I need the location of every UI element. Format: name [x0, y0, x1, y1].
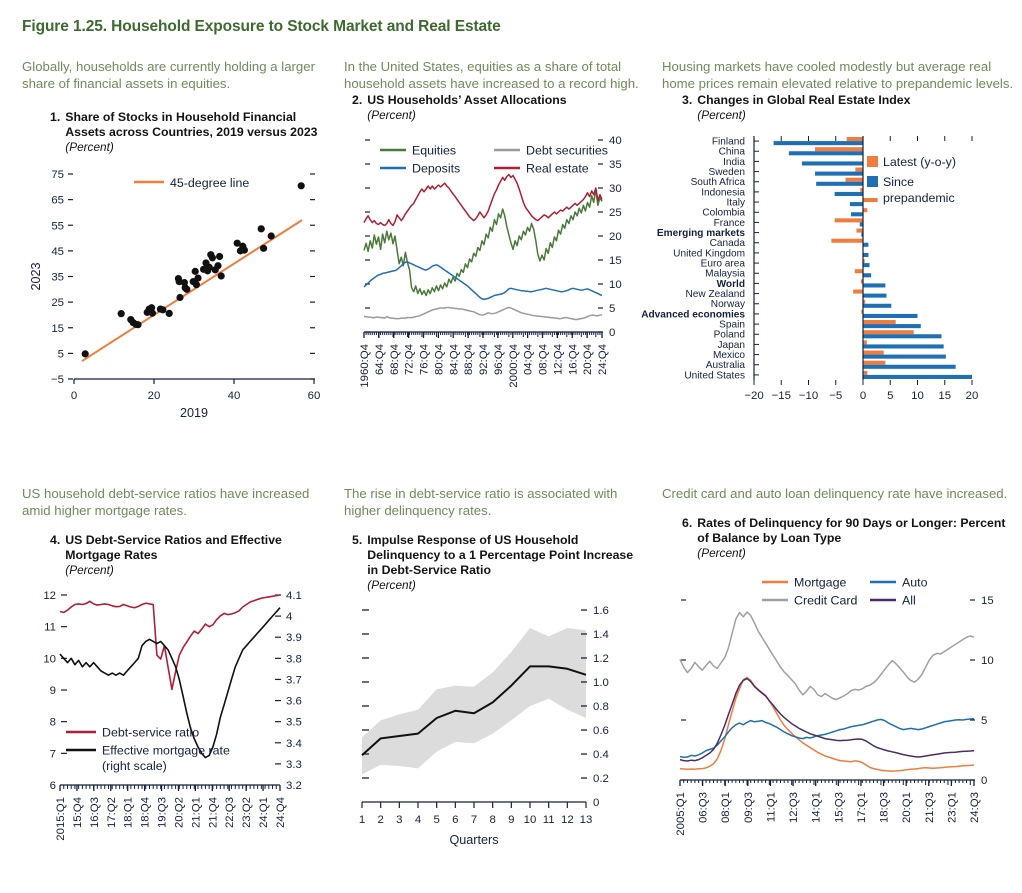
- panel-1-title: Share of Stocks in Household Financial A…: [65, 110, 332, 140]
- svg-text:23:Q1: 23:Q1: [946, 792, 958, 823]
- svg-text:76:Q4: 76:Q4: [419, 344, 431, 375]
- svg-text:12: 12: [561, 814, 574, 826]
- panel-6-column: Credit card and auto loan delinquency ra…: [662, 485, 1017, 845]
- panel-6-number: 6.: [682, 516, 692, 560]
- svg-text:11:Q1: 11:Q1: [765, 792, 777, 822]
- svg-text:4: 4: [415, 814, 421, 826]
- svg-text:−20: −20: [744, 390, 763, 402]
- svg-text:24:Q3: 24:Q3: [969, 792, 981, 823]
- panel-4-column: US household debt-service ratios have in…: [22, 485, 332, 867]
- svg-text:2023: 2023: [29, 262, 43, 290]
- svg-text:96:Q4: 96:Q4: [493, 344, 505, 375]
- svg-text:0: 0: [981, 775, 987, 787]
- svg-text:65: 65: [51, 195, 64, 207]
- svg-text:6: 6: [50, 780, 56, 792]
- panel-3-units: (Percent): [697, 108, 910, 122]
- panel-4-number: 4.: [50, 533, 60, 577]
- svg-text:Latest (y-o-y): Latest (y-o-y): [883, 155, 956, 169]
- svg-text:5: 5: [609, 303, 615, 315]
- panel-5-heading: 5. Impulse Response of US Household Deli…: [344, 533, 644, 592]
- svg-text:7: 7: [50, 748, 56, 760]
- svg-text:10: 10: [981, 655, 994, 667]
- svg-text:8: 8: [489, 814, 495, 826]
- svg-text:0.6: 0.6: [593, 725, 609, 737]
- svg-text:15:Q3: 15:Q3: [833, 792, 845, 823]
- svg-text:9: 9: [50, 685, 56, 697]
- svg-text:2005:Q1: 2005:Q1: [675, 792, 687, 836]
- svg-text:3.6: 3.6: [286, 696, 302, 708]
- svg-text:14:Q1: 14:Q1: [811, 792, 823, 823]
- panel-2-heading: 2. US Households’ Asset Allocations (Per…: [344, 93, 644, 122]
- svg-text:Debt-service ratio: Debt-service ratio: [102, 726, 199, 740]
- panel-2-units: (Percent): [367, 108, 566, 122]
- svg-text:3.9: 3.9: [286, 632, 302, 644]
- svg-text:21:Q4: 21:Q4: [207, 797, 219, 828]
- svg-text:25: 25: [609, 207, 622, 219]
- svg-text:20:Q4: 20:Q4: [582, 344, 594, 375]
- panel-1-number: 1.: [50, 110, 60, 154]
- svg-text:−10: −10: [799, 390, 818, 402]
- svg-text:16:Q3: 16:Q3: [89, 797, 101, 828]
- panel-2-blurb: In the United States, equities as a shar…: [344, 58, 644, 92]
- panel-5-number: 5.: [352, 533, 362, 592]
- svg-text:1960:Q4: 1960:Q4: [359, 344, 371, 388]
- svg-text:72:Q4: 72:Q4: [404, 344, 416, 375]
- svg-text:40: 40: [228, 390, 241, 402]
- svg-text:04:Q4: 04:Q4: [523, 344, 535, 375]
- svg-text:12:Q3: 12:Q3: [788, 792, 800, 823]
- panel-3-heading: 3. Changes in Global Real Estate Index (…: [662, 93, 1017, 122]
- panel-1-blurb: Globally, households are currently holdi…: [22, 58, 332, 92]
- svg-text:Deposits: Deposits: [412, 162, 460, 176]
- svg-text:12:Q4: 12:Q4: [552, 344, 564, 375]
- svg-text:64:Q4: 64:Q4: [374, 344, 386, 375]
- svg-text:All: All: [902, 594, 916, 608]
- svg-text:9: 9: [508, 814, 514, 826]
- panel-5-units: (Percent): [367, 578, 644, 592]
- panel-5-column: The rise in debt-service ratio is associ…: [344, 485, 644, 867]
- svg-text:10: 10: [609, 279, 622, 291]
- svg-text:6: 6: [452, 814, 458, 826]
- svg-text:2015:Q1: 2015:Q1: [55, 797, 67, 841]
- svg-text:4.1: 4.1: [286, 590, 302, 602]
- svg-text:Equities: Equities: [412, 144, 456, 158]
- svg-text:4: 4: [286, 611, 292, 623]
- svg-text:2019: 2019: [180, 406, 208, 420]
- svg-text:20:Q1: 20:Q1: [901, 792, 913, 823]
- svg-text:15: 15: [938, 390, 951, 402]
- svg-text:35: 35: [51, 272, 64, 284]
- svg-text:3.8: 3.8: [286, 653, 302, 665]
- svg-text:60: 60: [308, 390, 321, 402]
- svg-text:15: 15: [51, 323, 64, 335]
- svg-text:−15: −15: [772, 390, 791, 402]
- svg-text:2: 2: [377, 814, 383, 826]
- svg-text:11: 11: [44, 622, 56, 634]
- svg-text:20: 20: [966, 390, 979, 402]
- svg-text:3.7: 3.7: [286, 674, 302, 686]
- svg-text:17:Q1: 17:Q1: [856, 792, 868, 823]
- svg-text:Auto: Auto: [902, 576, 928, 590]
- svg-text:0: 0: [593, 797, 599, 809]
- svg-text:Mortgage: Mortgage: [794, 576, 846, 590]
- panel-5-title: Impulse Response of US Household Delinqu…: [367, 533, 644, 578]
- svg-text:10: 10: [524, 814, 537, 826]
- svg-text:21:Q3: 21:Q3: [924, 792, 936, 823]
- panel-1-heading: 1. Share of Stocks in Household Financia…: [22, 110, 332, 154]
- svg-text:10: 10: [911, 390, 924, 402]
- panel-4-heading: 4. US Debt-Service Ratios and Effective …: [22, 533, 332, 577]
- svg-text:24:Q4: 24:Q4: [275, 797, 287, 828]
- panel-4-chart: 67891011123.23.33.43.53.63.73.83.944.120…: [22, 577, 332, 867]
- svg-text:0: 0: [609, 327, 615, 339]
- svg-text:06:Q3: 06:Q3: [698, 792, 710, 823]
- svg-text:5: 5: [981, 715, 987, 727]
- svg-text:prepandemic: prepandemic: [883, 191, 955, 205]
- svg-text:Quarters: Quarters: [450, 833, 499, 847]
- svg-text:40: 40: [609, 135, 622, 147]
- panel-3-column: Housing markets have cooled modestly but…: [662, 58, 1017, 422]
- panel-4-blurb: US household debt-service ratios have in…: [22, 485, 332, 519]
- svg-text:08:Q1: 08:Q1: [720, 792, 732, 823]
- svg-text:0.2: 0.2: [593, 773, 609, 785]
- svg-text:10: 10: [43, 653, 56, 665]
- svg-text:3.3: 3.3: [286, 759, 302, 771]
- panel-4-title: US Debt-Service Ratios and Effective Mor…: [65, 533, 332, 563]
- svg-text:24:Q1: 24:Q1: [258, 797, 270, 828]
- svg-text:United States: United States: [684, 370, 745, 381]
- svg-text:−5: −5: [51, 374, 64, 386]
- svg-text:84:Q4: 84:Q4: [448, 344, 460, 375]
- panel-2-title: US Households’ Asset Allocations: [367, 93, 566, 108]
- svg-text:16:Q4: 16:Q4: [567, 344, 579, 375]
- svg-text:8: 8: [50, 717, 56, 729]
- svg-text:15:Q4: 15:Q4: [72, 797, 84, 828]
- svg-text:19:Q3: 19:Q3: [157, 797, 169, 828]
- panel-6-blurb: Credit card and auto loan delinquency ra…: [662, 485, 1017, 502]
- svg-text:24:Q4: 24:Q4: [597, 344, 609, 375]
- svg-text:20:Q2: 20:Q2: [173, 797, 185, 828]
- svg-text:35: 35: [609, 159, 622, 171]
- svg-text:3.4: 3.4: [286, 738, 302, 750]
- svg-text:−5: −5: [829, 390, 842, 402]
- svg-text:13: 13: [580, 814, 593, 826]
- panel-2-number: 2.: [352, 93, 362, 122]
- svg-text:45: 45: [51, 246, 64, 258]
- svg-text:5: 5: [433, 814, 439, 826]
- svg-text:18:Q1: 18:Q1: [123, 797, 135, 828]
- svg-text:25: 25: [51, 297, 64, 309]
- svg-text:17:Q2: 17:Q2: [106, 797, 118, 828]
- svg-text:21:Q1: 21:Q1: [190, 797, 202, 828]
- figure-container: Figure 1.25. Household Exposure to Stock…: [0, 0, 1022, 893]
- panel-5-blurb: The rise in debt-service ratio is associ…: [344, 485, 644, 519]
- svg-text:08:Q4: 08:Q4: [538, 344, 550, 375]
- svg-text:(right scale): (right scale): [102, 759, 167, 773]
- svg-text:2000:Q4: 2000:Q4: [508, 344, 520, 388]
- svg-text:20: 20: [609, 231, 622, 243]
- panel-6-chart: 0510152005:Q106:Q308:Q109:Q311:Q112:Q314…: [662, 560, 1017, 845]
- svg-text:1: 1: [359, 814, 365, 826]
- svg-text:20: 20: [148, 390, 161, 402]
- panel-3-number: 3.: [682, 93, 692, 122]
- svg-text:0: 0: [71, 390, 77, 402]
- svg-text:3: 3: [396, 814, 402, 826]
- panel-5-chart: 00.20.40.60.81.01.21.41.6123456789101112…: [344, 592, 644, 867]
- svg-text:Since: Since: [883, 175, 914, 189]
- panel-1-column: Globally, households are currently holdi…: [22, 58, 332, 429]
- svg-text:5: 5: [58, 348, 64, 360]
- svg-text:45-degree line: 45-degree line: [170, 176, 249, 190]
- svg-text:Debt securities: Debt securities: [526, 144, 608, 158]
- svg-text:Credit Card: Credit Card: [794, 594, 857, 608]
- panel-1-chart: −551525354555657502040602019202345-degre…: [22, 154, 332, 429]
- svg-text:3.5: 3.5: [286, 717, 302, 729]
- panel-3-title: Changes in Global Real Estate Index: [697, 93, 910, 108]
- svg-text:7: 7: [471, 814, 477, 826]
- svg-text:22:Q3: 22:Q3: [224, 797, 236, 828]
- panel-2-column: In the United States, equities as a shar…: [344, 58, 644, 412]
- svg-text:Effective mortgage rate: Effective mortgage rate: [102, 744, 230, 758]
- svg-text:55: 55: [51, 220, 64, 232]
- svg-text:92:Q4: 92:Q4: [478, 344, 490, 375]
- svg-text:1.6: 1.6: [593, 605, 609, 617]
- svg-text:15: 15: [981, 595, 994, 607]
- svg-text:09:Q3: 09:Q3: [743, 792, 755, 823]
- figure-title: Figure 1.25. Household Exposure to Stock…: [22, 18, 501, 36]
- svg-text:5: 5: [887, 390, 893, 402]
- svg-text:3.2: 3.2: [286, 780, 302, 792]
- svg-text:1.0: 1.0: [593, 677, 609, 689]
- panel-6-heading: 6. Rates of Delinquency for 90 Days or L…: [662, 516, 1017, 560]
- panel-6-units: (Percent): [697, 546, 1017, 560]
- svg-text:68:Q4: 68:Q4: [389, 344, 401, 375]
- svg-text:88:Q4: 88:Q4: [463, 344, 475, 375]
- svg-text:0.4: 0.4: [593, 749, 609, 761]
- svg-text:30: 30: [609, 183, 622, 195]
- svg-text:80:Q4: 80:Q4: [433, 344, 445, 375]
- panel-2-chart: 05101520253035401960:Q464:Q468:Q472:Q476…: [344, 122, 644, 412]
- svg-text:12: 12: [43, 590, 56, 602]
- svg-text:15: 15: [609, 255, 622, 267]
- panel-3-chart: FinlandChinaIndiaSwedenSouth AfricaIndon…: [662, 122, 1017, 422]
- svg-text:18:Q3: 18:Q3: [879, 792, 891, 823]
- panel-4-units: (Percent): [65, 563, 332, 577]
- panel-6-title: Rates of Delinquency for 90 Days or Long…: [697, 516, 1017, 546]
- svg-text:18:Q4: 18:Q4: [140, 797, 152, 828]
- panel-1-units: (Percent): [65, 140, 332, 154]
- svg-text:11: 11: [543, 814, 555, 826]
- svg-text:23:Q2: 23:Q2: [241, 797, 253, 828]
- svg-text:0.8: 0.8: [593, 701, 609, 713]
- svg-text:Real estate: Real estate: [526, 162, 589, 176]
- svg-text:1.2: 1.2: [593, 653, 609, 665]
- svg-text:1.4: 1.4: [593, 629, 609, 641]
- panel-3-blurb: Housing markets have cooled modestly but…: [662, 58, 1017, 92]
- svg-text:0: 0: [860, 390, 866, 402]
- svg-text:75: 75: [51, 169, 64, 181]
